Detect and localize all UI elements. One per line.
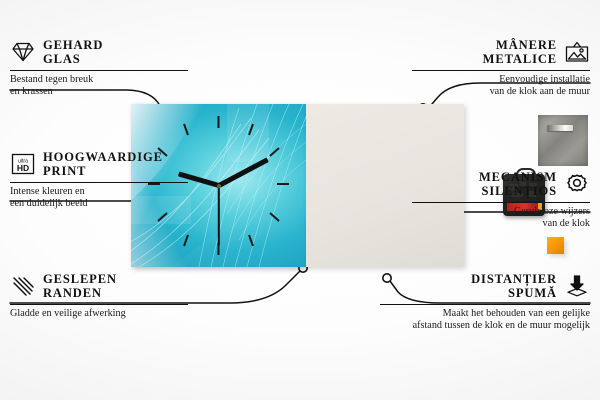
feature-title: GEHARD GLAS: [43, 38, 103, 66]
feature-title-line: MECANISM: [479, 170, 557, 184]
feature-header: MECANISM SILENȚIOS: [412, 170, 590, 198]
feature-geslepen-randen: GESLEPEN RANDEN Gladde en veilige afwerk…: [10, 272, 188, 320]
feature-title: DISTANȚIER SPUMĂ: [471, 272, 557, 300]
feature-description: Intense kleuren en een duidelijk beeld: [10, 186, 188, 211]
feature-title-line: RANDEN: [43, 286, 117, 300]
feature-gehard-glas: GEHARD GLAS Bestand tegen breuk en krass…: [10, 38, 188, 99]
feature-description: Eenvoudige installatie van de klok aan d…: [412, 74, 590, 99]
feature-header: DISTANȚIER SPUMĂ: [380, 272, 590, 300]
feature-rule: [10, 304, 188, 305]
feature-rule: [412, 202, 590, 203]
feature-rule: [10, 182, 188, 183]
feature-description: Maakt het behouden van een gelijke afsta…: [380, 308, 590, 333]
feature-title-line: PRINT: [43, 164, 163, 178]
feature-header: ultra HD HOOGWAARDIGE PRINT: [10, 150, 188, 178]
picture-frame-icon: [564, 40, 590, 64]
feature-description-line: Maakt het behouden van een gelijke: [380, 308, 590, 320]
foam-spacer: [547, 237, 564, 254]
spacer-arrow-icon: [564, 274, 590, 298]
feature-description-line: van de klok: [412, 218, 590, 230]
feature-header: MÂNERE METALICE: [412, 38, 590, 66]
feature-title-line: METALICE: [483, 52, 557, 66]
infographic-canvas: GEHARD GLAS Bestand tegen breuk en krass…: [0, 0, 600, 400]
feature-title-line: SPUMĂ: [471, 286, 557, 300]
clock-center-hub: [217, 184, 221, 188]
feature-title-line: MÂNERE: [483, 38, 557, 52]
ultra-hd-icon: ultra HD: [10, 152, 36, 176]
feature-hoogwaardige-print: ultra HD HOOGWAARDIGE PRINT Intense kleu…: [10, 150, 188, 211]
feature-title: MECANISM SILENȚIOS: [479, 170, 557, 198]
feature-title-line: DISTANȚIER: [471, 272, 557, 286]
gear-icon: [564, 172, 590, 196]
feature-description-line: en krassen: [10, 86, 188, 98]
metal-hanger-plate: [538, 115, 588, 166]
feature-description: Geruisloze wijzers van de klok: [412, 206, 590, 231]
feature-header: GESLEPEN RANDEN: [10, 272, 188, 300]
feature-description: Bestand tegen breuk en krassen: [10, 74, 188, 99]
feature-description-line: Geruisloze wijzers: [412, 206, 590, 218]
feature-title-line: SILENȚIOS: [479, 184, 557, 198]
feature-title: MÂNERE METALICE: [483, 38, 557, 66]
feature-title: GESLEPEN RANDEN: [43, 272, 117, 300]
feature-description: Gladde en veilige afwerking: [10, 308, 188, 320]
feature-title-line: HOOGWAARDIGE: [43, 150, 163, 164]
feature-description-line: Eenvoudige installatie: [412, 74, 590, 86]
clock-second-hand: [218, 186, 220, 246]
feature-description-line: van de klok aan de muur: [412, 86, 590, 98]
feature-description-line: Gladde en veilige afwerking: [10, 308, 188, 320]
feature-mecanism-silentios: MECANISM SILENȚIOS Geruisloze wijzers va…: [412, 170, 590, 231]
feature-description-line: Bestand tegen breuk: [10, 74, 188, 86]
feature-rule: [380, 304, 590, 305]
feature-manere-metalice: MÂNERE METALICE Eenvoudige installatie v…: [412, 38, 590, 99]
feature-description-line: een duidelijk beeld: [10, 198, 188, 210]
feature-description-line: Intense kleuren en: [10, 186, 188, 198]
svg-text:HD: HD: [17, 163, 29, 173]
feature-rule: [10, 70, 188, 71]
feature-title-line: GEHARD: [43, 38, 103, 52]
feature-header: GEHARD GLAS: [10, 38, 188, 66]
feature-title-line: GESLEPEN: [43, 272, 117, 286]
feature-title-line: GLAS: [43, 52, 103, 66]
bevelled-edges-icon: [10, 274, 36, 298]
feature-rule: [412, 70, 590, 71]
feature-title: HOOGWAARDIGE PRINT: [43, 150, 163, 178]
feature-distantier-spuma: DISTANȚIER SPUMĂ Maakt het behouden van …: [380, 272, 590, 333]
diamond-icon: [10, 40, 36, 64]
feature-description-line: afstand tussen de klok en de muur mogeli…: [380, 320, 590, 332]
